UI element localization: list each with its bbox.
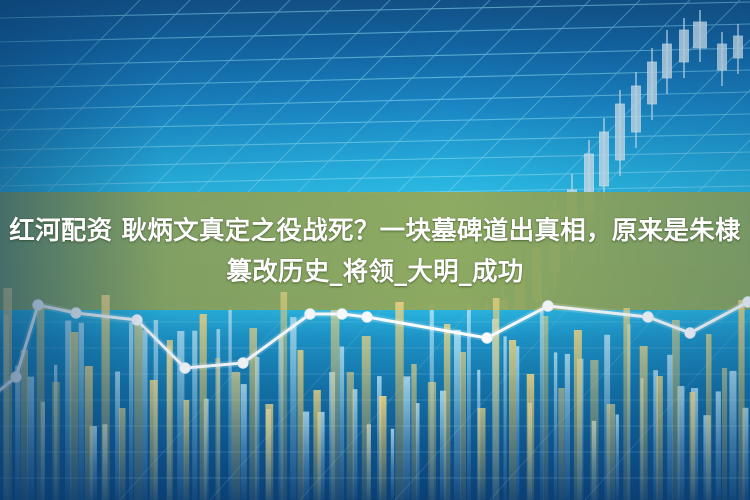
vignette-overlay xyxy=(0,0,750,500)
chart-background-scene xyxy=(0,0,750,500)
banner-image: 红河配资 耿炳文真定之役战死？一块墓碑道出真相，原来是朱棣 篡改历史_将领_大明… xyxy=(0,0,750,500)
